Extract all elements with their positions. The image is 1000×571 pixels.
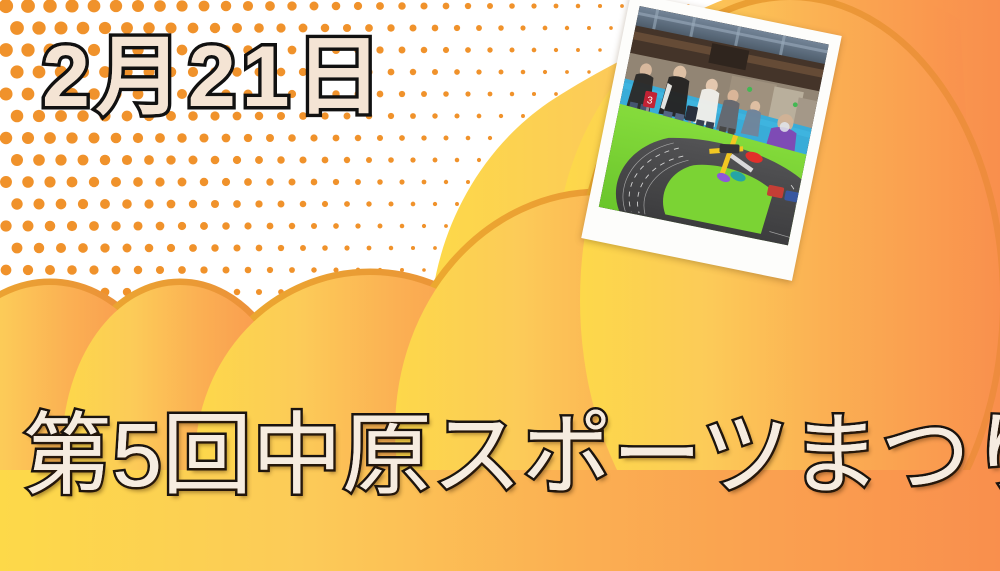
event-date: 2月21日 (42, 34, 388, 120)
race-track-photo: 3 (599, 6, 829, 245)
event-banner: 2月21日 2月21日 (0, 0, 1000, 571)
race-track-illustration: 3 (599, 6, 829, 245)
event-title: 第5回中原スポーツまつり (22, 411, 1000, 501)
